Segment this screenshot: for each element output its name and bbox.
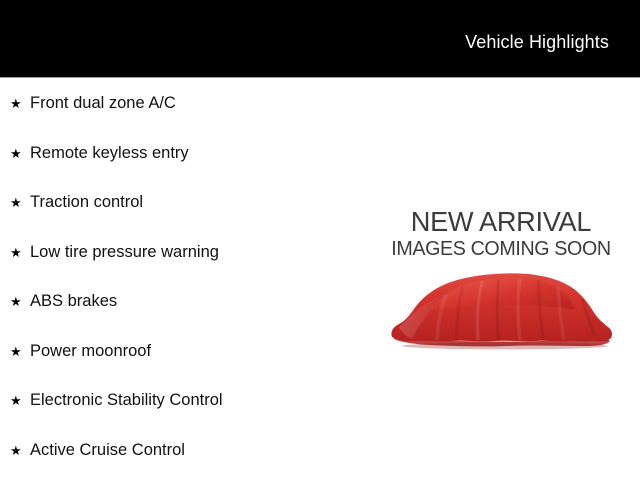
list-item: ★ ABS brakes (0, 293, 340, 343)
list-item-label: Traction control (30, 194, 143, 211)
list-item: ★ Remote keyless entry (0, 145, 340, 195)
star-bullet-icon: ★ (10, 295, 30, 308)
list-item: ★ Electronic Stability Control (0, 392, 340, 442)
star-bullet-icon: ★ (10, 394, 30, 407)
star-bullet-icon: ★ (10, 147, 30, 160)
page-header: Vehicle Highlights (0, 0, 640, 78)
list-item-label: ABS brakes (30, 293, 117, 310)
star-bullet-icon: ★ (10, 444, 30, 457)
star-bullet-icon: ★ (10, 246, 30, 259)
new-arrival-placeholder: NEW ARRIVAL IMAGES COMING SOON (385, 208, 617, 350)
list-item: ★ Front dual zone A/C (0, 78, 340, 145)
list-item-label: Remote keyless entry (30, 145, 189, 162)
list-item-label: Electronic Stability Control (30, 392, 223, 409)
list-item: ★ Power moonroof (0, 343, 340, 393)
list-item-label: Power moonroof (30, 343, 151, 360)
list-item-label: Active Cruise Control (30, 442, 185, 459)
list-item-label: Front dual zone A/C (30, 95, 176, 112)
images-coming-soon-subheading: IMAGES COMING SOON (390, 239, 613, 260)
list-item: ★ Low tire pressure warning (0, 244, 340, 294)
list-item: ★ Traction control (0, 194, 340, 244)
vehicle-highlights-list: ★ Front dual zone A/C ★ Remote keyless e… (0, 78, 340, 491)
list-item: ★ Active Cruise Control (0, 442, 340, 491)
star-bullet-icon: ★ (10, 196, 30, 209)
new-arrival-heading: NEW ARRIVAL (388, 208, 613, 236)
star-bullet-icon: ★ (10, 345, 30, 358)
list-item-label: Low tire pressure warning (30, 244, 219, 261)
page-title: Vehicle Highlights (465, 33, 640, 77)
covered-car-illustration (385, 261, 617, 350)
star-bullet-icon: ★ (10, 97, 30, 110)
